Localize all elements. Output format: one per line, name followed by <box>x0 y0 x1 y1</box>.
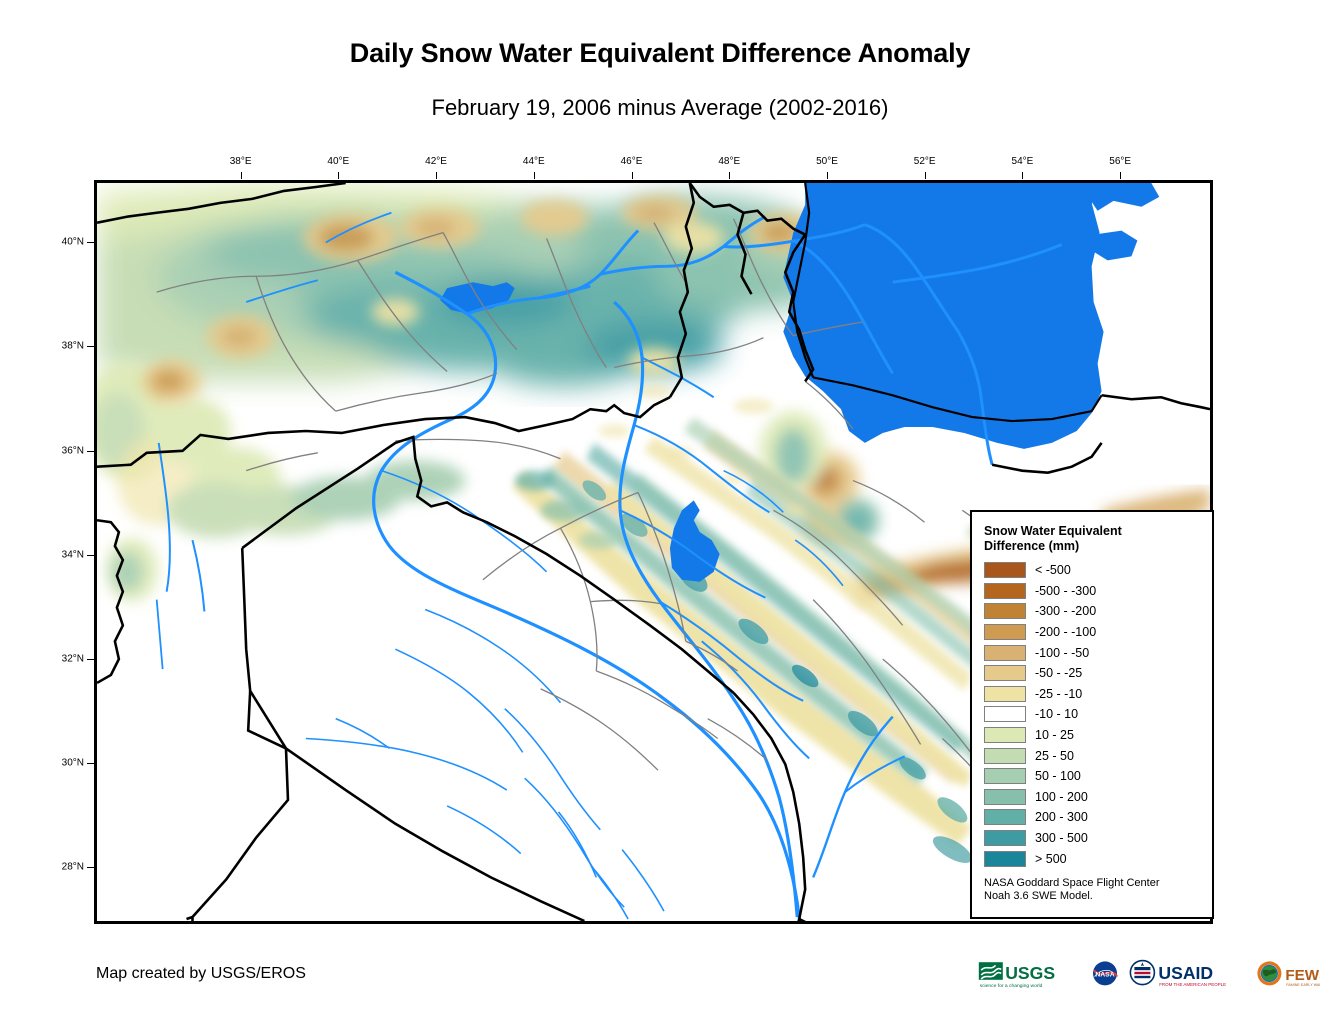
longitude-tick-mark <box>436 172 437 179</box>
latitude-tick-mark <box>87 346 94 347</box>
latitude-tick-mark <box>87 451 94 452</box>
legend-item: 10 - 25 <box>984 725 1202 746</box>
page-title: Daily Snow Water Equivalent Difference A… <box>0 38 1320 69</box>
latitude-tick-label: 30°N <box>40 757 84 768</box>
legend-label: -50 - -25 <box>1035 666 1082 680</box>
legend-item: 300 - 500 <box>984 828 1202 849</box>
agency-logo-strip: USGS science for a changing world NASA U… <box>978 957 1320 993</box>
legend-item: -25 - -10 <box>984 684 1202 705</box>
legend-item: -200 - -100 <box>984 622 1202 643</box>
latitude-tick-label: 28°N <box>40 861 84 872</box>
latitude-tick-mark <box>87 659 94 660</box>
longitude-tick-mark <box>1022 172 1023 179</box>
longitude-tick-label: 46°E <box>621 156 643 167</box>
legend-item: 100 - 200 <box>984 787 1202 808</box>
legend-source-note: NASA Goddard Space Flight Center Noah 3.… <box>984 877 1202 904</box>
usgs-logo[interactable]: USGS science for a changing world <box>978 959 1082 991</box>
legend-swatch <box>984 706 1026 722</box>
svg-text:NASA: NASA <box>1095 972 1114 979</box>
legend-label: 200 - 300 <box>1035 810 1088 824</box>
legend-swatch <box>984 645 1026 661</box>
legend-label: -100 - -50 <box>1035 646 1089 660</box>
legend-item: < -500 <box>984 560 1202 581</box>
map-legend: Snow Water Equivalent Difference (mm) < … <box>970 510 1214 919</box>
legend-label: -500 - -300 <box>1035 584 1096 598</box>
legend-label: 10 - 25 <box>1035 728 1074 742</box>
latitude-tick-label: 38°N <box>40 341 84 352</box>
legend-item: 25 - 50 <box>984 745 1202 766</box>
latitude-tick-mark <box>87 763 94 764</box>
legend-item: -10 - 10 <box>984 704 1202 725</box>
longitude-tick-label: 50°E <box>816 156 838 167</box>
latitude-tick-label: 34°N <box>40 549 84 560</box>
legend-item: -50 - -25 <box>984 663 1202 684</box>
map-credit: Map created by USGS/EROS <box>96 965 306 983</box>
legend-label: 100 - 200 <box>1035 790 1088 804</box>
legend-item-list: < -500-500 - -300-300 - -200-200 - -100-… <box>984 560 1202 869</box>
legend-swatch <box>984 768 1026 784</box>
legend-label: 50 - 100 <box>1035 769 1081 783</box>
longitude-tick-label: 42°E <box>425 156 447 167</box>
svg-text:USGS: USGS <box>1005 963 1055 983</box>
legend-swatch <box>984 562 1026 578</box>
legend-swatch <box>984 727 1026 743</box>
legend-label: -25 - -10 <box>1035 687 1082 701</box>
longitude-tick-mark <box>925 172 926 179</box>
longitude-tick-label: 52°E <box>914 156 936 167</box>
longitude-tick-label: 38°E <box>230 156 252 167</box>
longitude-tick-mark <box>632 172 633 179</box>
legend-label: -300 - -200 <box>1035 604 1096 618</box>
latitude-tick-label: 40°N <box>40 237 84 248</box>
fewsnet-logo[interactable]: FEWS NET FAMINE EARLY WARNING SYSTEMS NE… <box>1255 959 1320 991</box>
legend-label: -200 - -100 <box>1035 625 1096 639</box>
longitude-tick-mark <box>534 172 535 179</box>
longitude-tick-label: 48°E <box>718 156 740 167</box>
legend-title: Snow Water Equivalent Difference (mm) <box>984 524 1202 554</box>
legend-swatch <box>984 624 1026 640</box>
legend-swatch <box>984 748 1026 764</box>
longitude-tick-mark <box>729 172 730 179</box>
svg-text:USAID: USAID <box>1158 963 1213 983</box>
legend-item: > 500 <box>984 848 1202 869</box>
legend-swatch <box>984 830 1026 846</box>
latitude-tick-label: 32°N <box>40 653 84 664</box>
page-subtitle: February 19, 2006 minus Average (2002-20… <box>0 95 1320 121</box>
longitude-tick-label: 56°E <box>1109 156 1131 167</box>
legend-item: -300 - -200 <box>984 601 1202 622</box>
legend-label: 300 - 500 <box>1035 831 1088 845</box>
svg-text:FEWS NET: FEWS NET <box>1285 967 1320 984</box>
svg-text:science for a changing world: science for a changing world <box>980 983 1043 989</box>
latitude-tick-mark <box>87 242 94 243</box>
legend-swatch <box>984 789 1026 805</box>
longitude-tick-label: 44°E <box>523 156 545 167</box>
legend-label: < -500 <box>1035 563 1071 577</box>
longitude-tick-mark <box>338 172 339 179</box>
usaid-logo[interactable]: USAID FROM THE AMERICAN PEOPLE <box>1128 959 1248 991</box>
svg-text:FAMINE EARLY WARNING SYSTEMS N: FAMINE EARLY WARNING SYSTEMS NETWORK <box>1286 983 1320 987</box>
legend-label: > 500 <box>1035 852 1067 866</box>
latitude-tick-label: 36°N <box>40 445 84 456</box>
legend-swatch <box>984 686 1026 702</box>
legend-swatch <box>984 851 1026 867</box>
longitude-tick-label: 54°E <box>1012 156 1034 167</box>
svg-text:FROM THE AMERICAN PEOPLE: FROM THE AMERICAN PEOPLE <box>1159 982 1226 987</box>
latitude-tick-mark <box>87 867 94 868</box>
legend-swatch <box>984 809 1026 825</box>
legend-item: 200 - 300 <box>984 807 1202 828</box>
nasa-logo[interactable]: NASA <box>1089 959 1121 991</box>
legend-label: -10 - 10 <box>1035 707 1078 721</box>
longitude-tick-label: 40°E <box>327 156 349 167</box>
legend-swatch <box>984 665 1026 681</box>
latitude-tick-mark <box>87 555 94 556</box>
legend-item: 50 - 100 <box>984 766 1202 787</box>
legend-swatch <box>984 583 1026 599</box>
legend-item: -500 - -300 <box>984 581 1202 602</box>
longitude-tick-mark <box>827 172 828 179</box>
longitude-tick-mark <box>241 172 242 179</box>
legend-label: 25 - 50 <box>1035 749 1074 763</box>
longitude-tick-mark <box>1120 172 1121 179</box>
legend-item: -100 - -50 <box>984 642 1202 663</box>
legend-swatch <box>984 603 1026 619</box>
